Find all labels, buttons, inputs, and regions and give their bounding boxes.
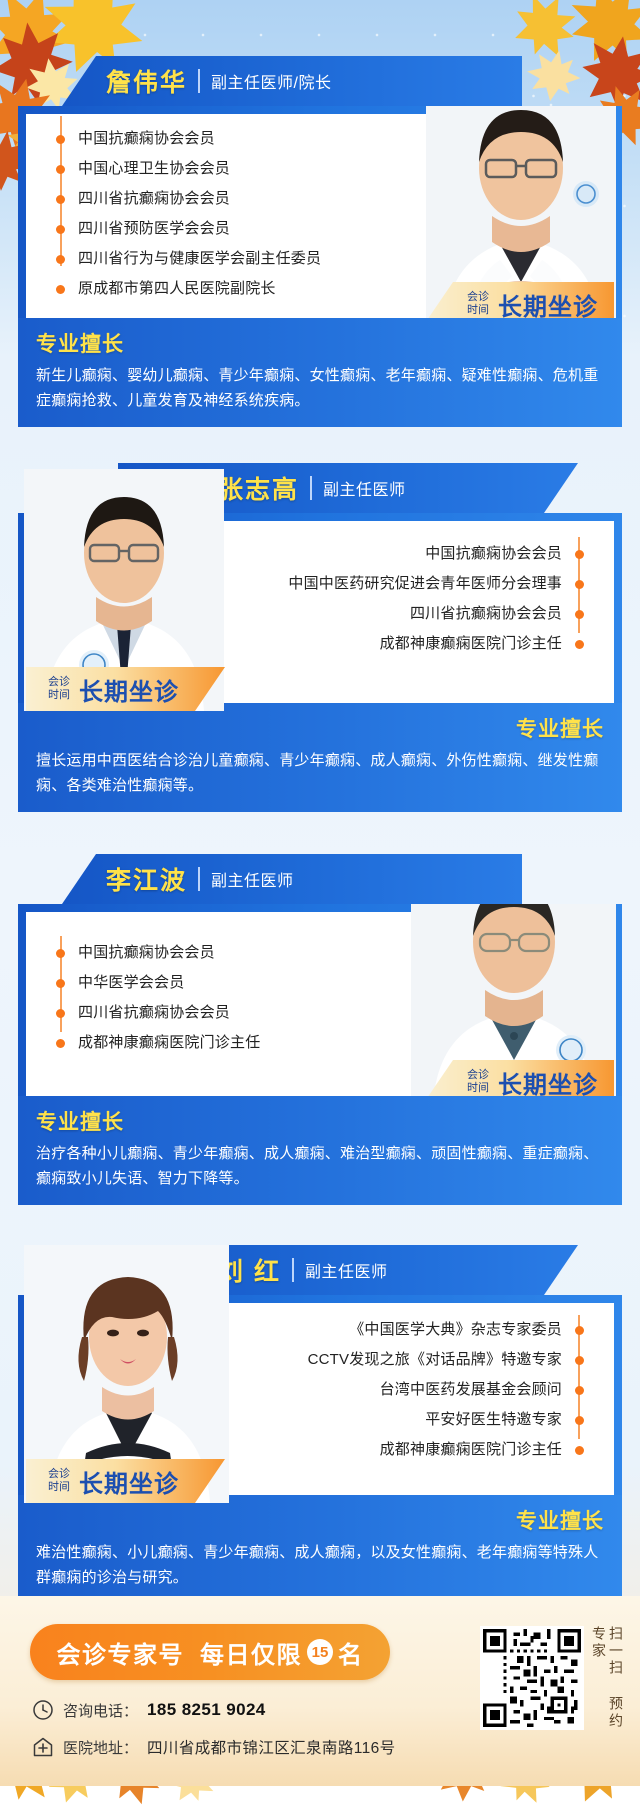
credential-item: 中国中医药研究促进会青年医师分会理事 (288, 569, 588, 599)
appointment-quota-banner[interactable]: 会诊专家号 每日仅限 15 名 (30, 1624, 390, 1680)
doctor-card-2: 张志高 副主任医师 中国抗癫痫协会会员 中国中医药研究促进会青年医师分会理事 四… (18, 463, 622, 812)
consult-label-line1: 会诊 (467, 1069, 489, 1081)
consult-label-line2: 时间 (467, 304, 489, 316)
specialty-text: 擅长运用中西医结合诊治儿童癫痫、青少年癫痫、成人癫痫、外伤性癫痫、继发性癫痫、各… (36, 748, 604, 798)
hospital-icon (32, 1736, 54, 1758)
doctor-title-4: 副主任医师 (305, 1258, 388, 1282)
specialty-title: 专业擅长 (36, 1106, 604, 1136)
credential-item: 成都神康癫痫医院门诊主任 (52, 1028, 260, 1058)
consult-time-label: 会诊 时间 (48, 1468, 70, 1494)
doctor-card-4: 刘 红 副主任医师 《中国医学大典》杂志专家委员 CCTV发现之旅《对话品牌》特… (18, 1245, 622, 1604)
consult-label-line2: 时间 (48, 689, 70, 701)
doctor-panel-4: 《中国医学大典》杂志专家委员 CCTV发现之旅《对话品牌》特邀专家 台湾中医药发… (18, 1295, 622, 1495)
doctor-title-3: 副主任医师 (211, 867, 294, 891)
divider (310, 476, 312, 500)
credential-item: 四川省预防医学会会员 (52, 214, 321, 244)
qr-code[interactable] (480, 1626, 584, 1730)
credential-item: 中国心理卫生协会会员 (52, 154, 321, 184)
credential-item: 四川省抗癫痫协会会员 (52, 184, 321, 214)
credential-item: 中国抗癫痫协会会员 (288, 539, 588, 569)
address-label: 医院地址： (63, 1737, 138, 1758)
consult-label-line2: 时间 (467, 1082, 489, 1094)
specialty-block-4: 专业擅长 难治性癫痫、小儿癫痫、青少年癫痫、成人癫痫，以及女性癫痫、老年癫痫等特… (18, 1495, 622, 1604)
consult-label-line1: 会诊 (467, 291, 489, 303)
phone-row[interactable]: 咨询电话： 185 8251 9024 (32, 1699, 266, 1721)
specialty-title: 专业擅长 (36, 713, 604, 743)
consult-time-ribbon-2: 会诊 时间 长期坐诊 (26, 667, 225, 711)
credential-item: 成都神康癫痫医院门诊主任 (308, 1435, 588, 1465)
credential-item: 成都神康癫痫医院门诊主任 (288, 629, 588, 659)
consult-time-value: 长期坐诊 (498, 287, 598, 322)
specialty-title: 专业擅长 (36, 328, 604, 358)
specialty-block-3: 专业擅长 治疗各种小儿癫痫、青少年癫痫、成人癫痫、难治型癫痫、顽固性癫痫、重症癫… (18, 1096, 622, 1205)
quota-text-c: 名 (338, 1635, 364, 1670)
specialty-block-2: 专业擅长 擅长运用中西医结合诊治儿童癫痫、青少年癫痫、成人癫痫、外伤性癫痫、继发… (18, 703, 622, 812)
specialty-text: 治疗各种小儿癫痫、青少年癫痫、成人癫痫、难治型癫痫、顽固性癫痫、重症癫痫、癫痫致… (36, 1141, 604, 1191)
consult-time-value: 长期坐诊 (498, 1065, 598, 1100)
consult-label-line1: 会诊 (48, 1468, 70, 1480)
consult-time-label: 会诊 时间 (467, 1069, 489, 1095)
doctor-title-2: 副主任医师 (323, 476, 406, 500)
credential-list-4: 《中国医学大典》杂志专家委员 CCTV发现之旅《对话品牌》特邀专家 台湾中医药发… (308, 1315, 588, 1465)
consult-label-line1: 会诊 (48, 676, 70, 688)
divider (292, 1258, 294, 1282)
consult-time-value: 长期坐诊 (79, 672, 179, 707)
specialty-block-1: 专业擅长 新生儿癫痫、婴幼儿癫痫、青少年癫痫、女性癫痫、老年癫痫、疑难性癫痫、危… (18, 318, 622, 427)
doctor-header-3: 李江波 副主任医师 (62, 854, 522, 904)
divider (198, 867, 200, 891)
credential-item: 平安好医生特邀专家 (308, 1405, 588, 1435)
doctor-panel-3: 中国抗癫痫协会会员 中华医学会会员 四川省抗癫痫协会会员 成都神康癫痫医院门诊主… (18, 904, 622, 1096)
phone-label: 咨询电话： (63, 1700, 138, 1721)
consult-label-line2: 时间 (48, 1481, 70, 1493)
quota-text-b: 每日仅限 (200, 1635, 302, 1670)
credential-item: 《中国医学大典》杂志专家委员 (308, 1315, 588, 1345)
doctor-name-2: 张志高 (218, 470, 299, 506)
clock-icon (32, 1699, 54, 1721)
consult-time-label: 会诊 时间 (467, 291, 489, 317)
consult-time-label: 会诊 时间 (48, 676, 70, 702)
doctor-name-1: 詹伟华 (106, 63, 187, 99)
credential-item: 四川省抗癫痫协会会员 (52, 998, 260, 1028)
credential-item: 台湾中医药发展基金会顾问 (308, 1375, 588, 1405)
doctor-card-1: 詹伟华 副主任医师/院长 中国抗癫痫协会会员 中国心理卫生协会会员 四川省抗癫痫… (18, 56, 622, 427)
doctor-panel-1: 中国抗癫痫协会会员 中国心理卫生协会会员 四川省抗癫痫协会会员 四川省预防医学会… (18, 106, 622, 318)
credential-item: 原成都市第四人民医院副院长 (52, 274, 321, 304)
credential-list-1: 中国抗癫痫协会会员 中国心理卫生协会会员 四川省抗癫痫协会会员 四川省预防医学会… (52, 124, 321, 304)
specialty-text: 新生儿癫痫、婴幼儿癫痫、青少年癫痫、女性癫痫、老年癫痫、疑难性癫痫、危机重症癫痫… (36, 363, 604, 413)
scan-instruction: 扫一扫 预约专家 (598, 1626, 624, 1746)
doctor-card-3: 李江波 副主任医师 中国抗癫痫协会会员 中华医学会会员 四川省抗癫痫协会会员 成… (18, 854, 622, 1205)
doctor-title-1: 副主任医师/院长 (211, 69, 331, 93)
credential-list-3: 中国抗癫痫协会会员 中华医学会会员 四川省抗癫痫协会会员 成都神康癫痫医院门诊主… (52, 938, 260, 1058)
quota-count: 15 (307, 1639, 333, 1665)
specialty-title: 专业擅长 (36, 1505, 604, 1535)
divider (198, 69, 200, 93)
footer: 会诊专家号 每日仅限 15 名 咨询电话： 185 8251 9024 医院地址… (0, 1596, 640, 1786)
credential-item: 中国抗癫痫协会会员 (52, 938, 260, 968)
credential-item: CCTV发现之旅《对话品牌》特邀专家 (308, 1345, 588, 1375)
credential-list-2: 中国抗癫痫协会会员 中国中医药研究促进会青年医师分会理事 四川省抗癫痫协会会员 … (288, 539, 588, 659)
phone-value: 185 8251 9024 (147, 1700, 266, 1720)
doctor-header-1: 詹伟华 副主任医师/院长 (62, 56, 522, 106)
address-value: 四川省成都市锦江区汇泉南路116号 (147, 1736, 396, 1758)
credential-item: 中国抗癫痫协会会员 (52, 124, 321, 154)
credential-item: 四川省抗癫痫协会会员 (288, 599, 588, 629)
credential-item: 中华医学会会员 (52, 968, 260, 998)
consult-time-value: 长期坐诊 (79, 1464, 179, 1499)
consult-time-ribbon-4: 会诊 时间 长期坐诊 (26, 1459, 225, 1503)
quota-text-a: 会诊专家号 (57, 1635, 185, 1670)
specialty-text: 难治性癫痫、小儿癫痫、青少年癫痫、成人癫痫，以及女性癫痫、老年癫痫等特殊人群癫痫… (36, 1540, 604, 1590)
address-row[interactable]: 医院地址： 四川省成都市锦江区汇泉南路116号 (32, 1736, 396, 1758)
doctor-panel-2: 中国抗癫痫协会会员 中国中医药研究促进会青年医师分会理事 四川省抗癫痫协会会员 … (18, 513, 622, 703)
doctor-name-3: 李江波 (106, 861, 187, 897)
credential-item: 四川省行为与健康医学会副主任委员 (52, 244, 321, 274)
